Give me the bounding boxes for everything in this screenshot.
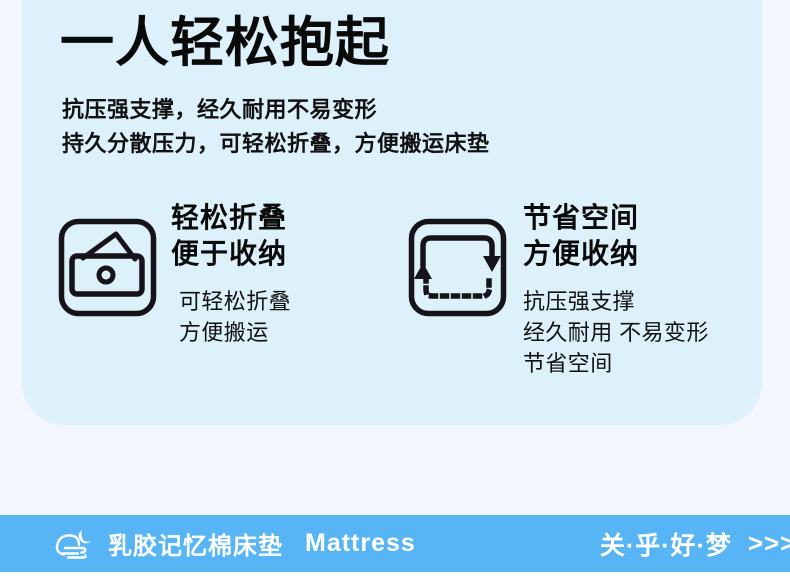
- feature-heading-fold: 轻松折叠 便于收纳: [171, 200, 291, 272]
- footer-bar: 乳胶记忆棉床垫 Mattress 关·乎·好·梦 >>>: [0, 515, 790, 572]
- page-title: 一人轻松抱起: [60, 12, 390, 76]
- hero-subtitle-line-1: 抗压强支撑，经久耐用不易变形: [62, 93, 490, 127]
- feature-body-fold-line-1: 可轻松折叠: [179, 286, 291, 317]
- footer-brand-en: Mattress: [305, 529, 416, 558]
- feature-text-space: 节省空间 方便收纳 抗压强支撑 经久耐用 不易变形 节省空间: [523, 198, 709, 379]
- hero-subtitle-line-2: 持久分散压力，可轻松折叠，方便搬运床垫: [62, 127, 490, 161]
- feature-heading-fold-line-1: 轻松折叠: [171, 200, 291, 236]
- footer-bottom-strip: [0, 572, 790, 588]
- cloud-moon-wind-icon: [52, 524, 96, 564]
- promo-banner: 一人轻松抱起 抗压强支撑，经久耐用不易变形 持久分散压力，可轻松折叠，方便搬运床…: [0, 0, 790, 588]
- feature-body-fold-line-2: 方便搬运: [179, 317, 291, 348]
- wallet-fold-icon: [58, 218, 157, 317]
- feature-heading-space-line-1: 节省空间: [523, 200, 709, 236]
- feature-text-fold: 轻松折叠 便于收纳 可轻松折叠 方便搬运: [171, 198, 291, 348]
- footer-slogan: 关·乎·好·梦: [600, 526, 732, 562]
- feature-body-space-line-2: 经久耐用 不易变形: [523, 317, 709, 348]
- feature-heading-space: 节省空间 方便收纳: [523, 200, 709, 272]
- footer-arrows-icon[interactable]: >>>: [748, 528, 790, 559]
- fold-cycle-icon: [408, 218, 507, 317]
- feature-body-space-line-1: 抗压强支撑: [523, 286, 709, 317]
- feature-body-space: 抗压强支撑 经久耐用 不易变形 节省空间: [523, 286, 709, 380]
- hero-subtitle: 抗压强支撑，经久耐用不易变形 持久分散压力，可轻松折叠，方便搬运床垫: [62, 93, 490, 161]
- feature-list: 轻松折叠 便于收纳 可轻松折叠 方便搬运: [0, 198, 790, 398]
- feature-item-space: 节省空间 方便收纳 抗压强支撑 经久耐用 不易变形 节省空间: [408, 198, 709, 379]
- feature-item-fold: 轻松折叠 便于收纳 可轻松折叠 方便搬运: [58, 198, 291, 348]
- feature-body-space-line-3: 节省空间: [523, 348, 709, 379]
- feature-heading-space-line-2: 方便收纳: [523, 236, 709, 272]
- footer-brand-cn: 乳胶记忆棉床垫: [108, 526, 283, 561]
- feature-body-fold: 可轻松折叠 方便搬运: [171, 286, 291, 348]
- feature-heading-fold-line-2: 便于收纳: [171, 236, 291, 272]
